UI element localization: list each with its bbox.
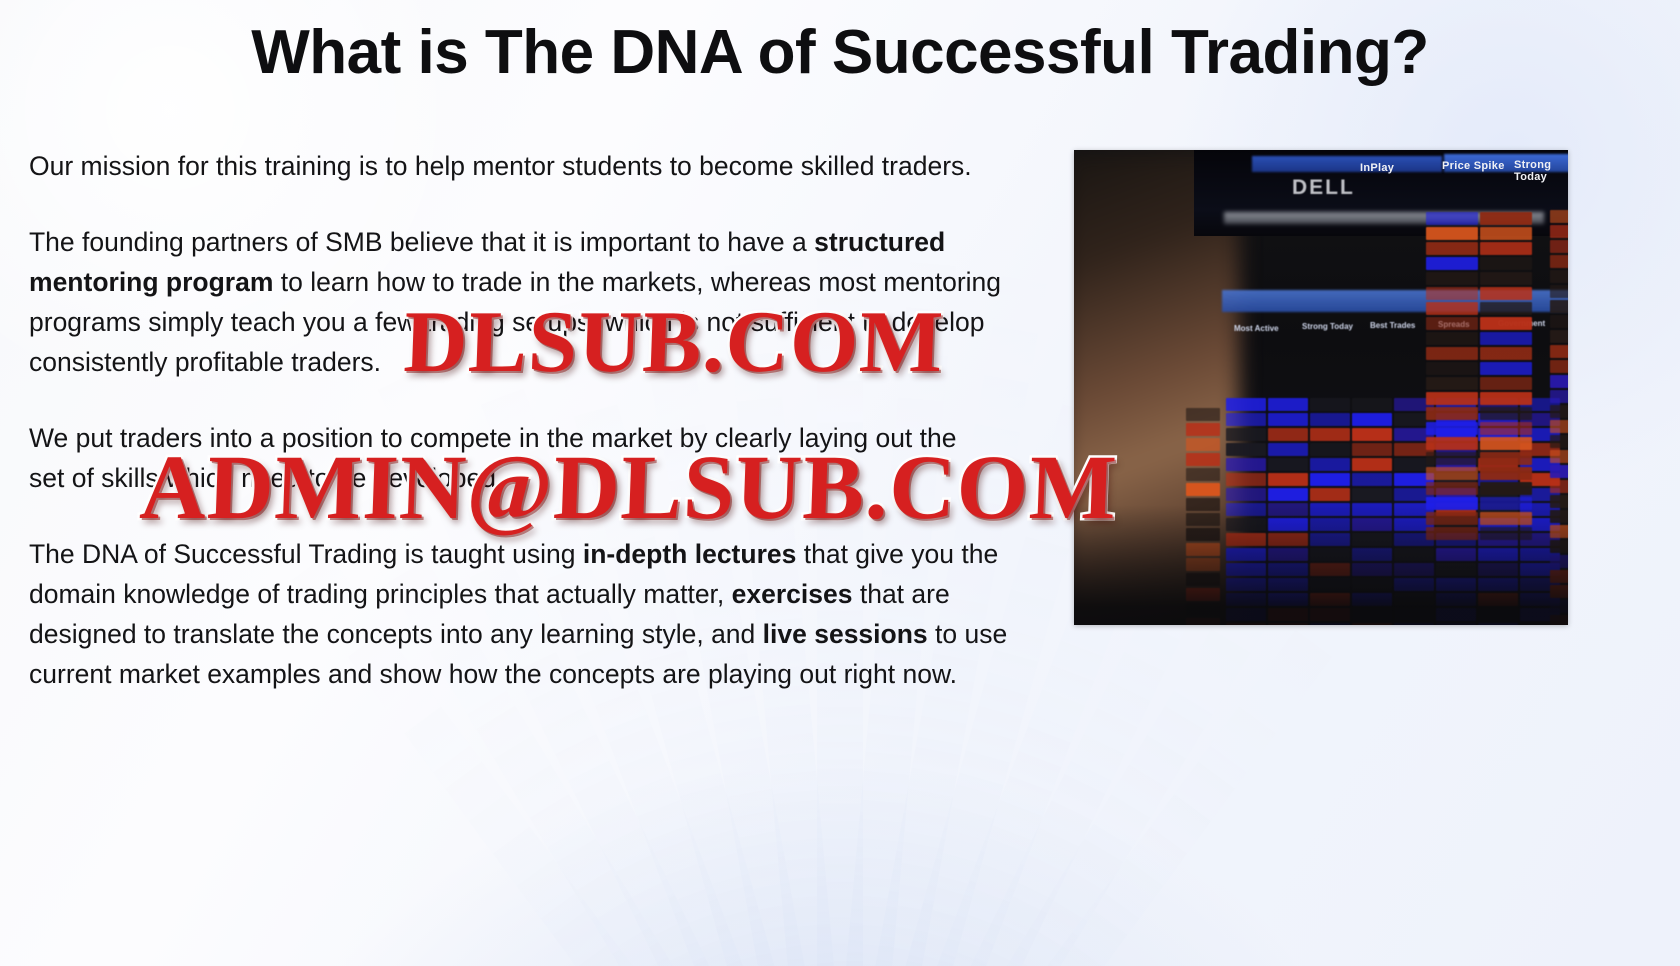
mission-text: Our mission for this training is to help… [29, 151, 972, 181]
partners-text-1: The founding partners of SMB believe tha… [29, 227, 814, 257]
price-cell [1550, 465, 1568, 478]
price-cell [1426, 422, 1478, 435]
price-cell [1186, 408, 1220, 421]
price-cell [1480, 257, 1532, 270]
price-cell [1426, 437, 1478, 450]
paragraph-mission: Our mission for this training is to help… [29, 146, 994, 186]
watermark-dlsub: DLSUB.COM [402, 292, 945, 393]
price-cell [1480, 347, 1532, 360]
slide-canvas: What is The DNA of Successful Trading? O… [0, 0, 1680, 966]
price-cell [1550, 390, 1568, 403]
price-cell [1226, 443, 1266, 456]
price-cell [1426, 257, 1478, 270]
price-cell [1426, 212, 1478, 225]
price-cell [1480, 272, 1532, 285]
price-cell [1480, 422, 1532, 435]
price-cell [1480, 362, 1532, 375]
price-cell [1226, 413, 1266, 426]
price-cell [1550, 345, 1568, 358]
price-cell [1352, 488, 1392, 501]
price-cell [1426, 482, 1478, 495]
price-cell [1352, 443, 1392, 456]
price-cell [1480, 287, 1532, 300]
price-cell [1268, 458, 1308, 471]
price-cell [1226, 428, 1266, 441]
price-cell [1550, 240, 1568, 253]
price-cell [1426, 227, 1478, 240]
price-cell [1426, 452, 1478, 465]
price-cell [1480, 482, 1532, 495]
price-cell [1268, 413, 1308, 426]
price-cell [1550, 315, 1568, 328]
price-cell [1226, 458, 1266, 471]
price-cell [1550, 255, 1568, 268]
price-cell [1310, 443, 1350, 456]
photo-bottom-vignette [1074, 505, 1568, 625]
trading-desk-photo: DELL InPlay Price Spike Strong Today Mos… [1074, 150, 1568, 625]
taught-text-1: The DNA of Successful Trading is taught … [29, 539, 583, 569]
price-cell [1480, 467, 1532, 480]
price-cell [1550, 210, 1568, 223]
price-cell [1550, 480, 1568, 493]
price-cell [1426, 347, 1478, 360]
price-cell [1550, 330, 1568, 343]
price-cell [1186, 423, 1220, 436]
price-cell [1426, 302, 1478, 315]
price-cell [1480, 437, 1532, 450]
price-cell [1186, 438, 1220, 451]
price-cell [1426, 317, 1478, 330]
price-cell [1550, 285, 1568, 298]
taught-bold-live-sessions: live sessions [763, 619, 928, 649]
price-cell [1310, 398, 1350, 411]
price-cell [1550, 450, 1568, 463]
sub-header-strong-today: Strong Today [1302, 322, 1353, 331]
price-cell [1352, 413, 1392, 426]
price-cell [1226, 398, 1266, 411]
price-cell [1426, 362, 1478, 375]
column-header-inplay: InPlay [1360, 162, 1394, 174]
price-cell [1352, 428, 1392, 441]
price-cell [1310, 473, 1350, 486]
price-cell [1310, 458, 1350, 471]
watermark-admin-email: ADMIN@DLSUB.COM [138, 434, 1119, 540]
dell-logo: DELL [1292, 176, 1355, 200]
price-cell [1268, 488, 1308, 501]
price-cell [1226, 488, 1266, 501]
price-cell [1480, 392, 1532, 405]
column-header-strong-today: Strong Today [1514, 159, 1568, 183]
column-header-price-spike: Price Spike [1442, 160, 1505, 172]
price-cell [1480, 452, 1532, 465]
price-cell [1480, 242, 1532, 255]
price-cell [1186, 483, 1220, 496]
price-cell [1186, 468, 1220, 481]
price-cell [1480, 212, 1532, 225]
price-cell [1426, 332, 1478, 345]
price-cell [1550, 405, 1568, 418]
price-cell [1426, 407, 1478, 420]
price-cell [1426, 242, 1478, 255]
price-cell [1426, 272, 1478, 285]
price-cell [1550, 225, 1568, 238]
price-cell [1352, 473, 1392, 486]
price-cell [1186, 453, 1220, 466]
price-cell [1480, 377, 1532, 390]
page-title: What is The DNA of Successful Trading? [0, 20, 1680, 85]
price-cell [1268, 398, 1308, 411]
price-cell [1480, 302, 1532, 315]
taught-bold-exercises: exercises [732, 579, 853, 609]
body-copy: Our mission for this training is to help… [29, 146, 1039, 694]
taught-bold-lectures: in-depth lectures [583, 539, 797, 569]
sub-header-most-active: Most Active [1234, 324, 1279, 333]
price-cell [1426, 467, 1478, 480]
price-cell [1480, 407, 1532, 420]
price-cell [1480, 227, 1532, 240]
price-cell [1310, 413, 1350, 426]
price-cell [1550, 420, 1568, 433]
price-cell [1226, 473, 1266, 486]
price-cell [1352, 398, 1392, 411]
paragraph-taught: The DNA of Successful Trading is taught … [29, 534, 1034, 694]
price-cell [1310, 428, 1350, 441]
price-cell [1352, 458, 1392, 471]
price-cell [1268, 428, 1308, 441]
price-cell [1480, 317, 1532, 330]
price-cell [1426, 377, 1478, 390]
price-cell [1550, 375, 1568, 388]
sub-header-best-trades: Best Trades [1370, 321, 1415, 330]
price-cell [1550, 435, 1568, 448]
price-cell [1310, 488, 1350, 501]
price-cell [1550, 360, 1568, 373]
price-cell [1268, 443, 1308, 456]
price-cell [1268, 473, 1308, 486]
price-grid-center-right [1426, 212, 1532, 540]
price-cell [1480, 332, 1532, 345]
price-cell [1550, 300, 1568, 313]
price-cell [1550, 270, 1568, 283]
price-cell [1426, 287, 1478, 300]
photo-window-titlebar-1 [1252, 156, 1442, 172]
price-cell [1426, 392, 1478, 405]
